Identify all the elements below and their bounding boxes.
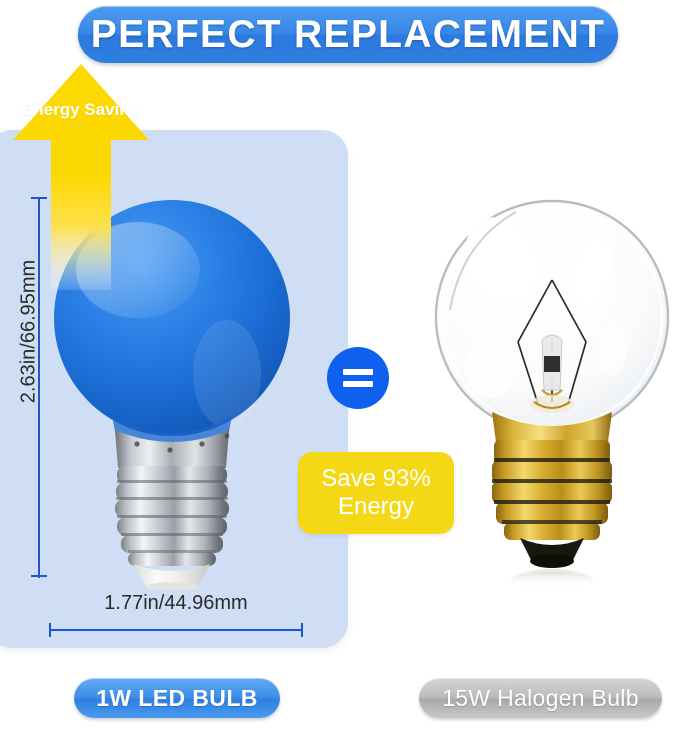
height-dimension-label: 2.63in/66.95mm (18, 227, 41, 437)
savings-callout: Save 93% Energy (298, 452, 454, 534)
dimension-cap-bottom (31, 575, 47, 577)
equals-icon (327, 347, 389, 409)
halogen-bulb-label-pill: 15W Halogen Bulb (419, 678, 662, 718)
product-comparison-image: { "header": { "title": "PERFECT REPLACEM… (0, 0, 679, 731)
halogen-bulb-icon (430, 190, 675, 590)
page-title: PERFECT REPLACEMENT (91, 13, 605, 57)
halogen-bulb-label: 15W Halogen Bulb (442, 685, 639, 712)
dimension-cap-right (301, 623, 303, 637)
led-bulb-label: 1W LED BULB (96, 685, 258, 712)
width-dimension-label: 1.77in/44.96mm (48, 592, 304, 615)
savings-callout-text: Save 93% Energy (321, 465, 430, 521)
equals-symbol (343, 369, 373, 387)
dimension-line (50, 629, 302, 631)
led-bulb-label-pill: 1W LED BULB (74, 678, 280, 718)
header-banner: PERFECT REPLACEMENT (78, 6, 618, 63)
width-dimension-line (48, 622, 304, 638)
